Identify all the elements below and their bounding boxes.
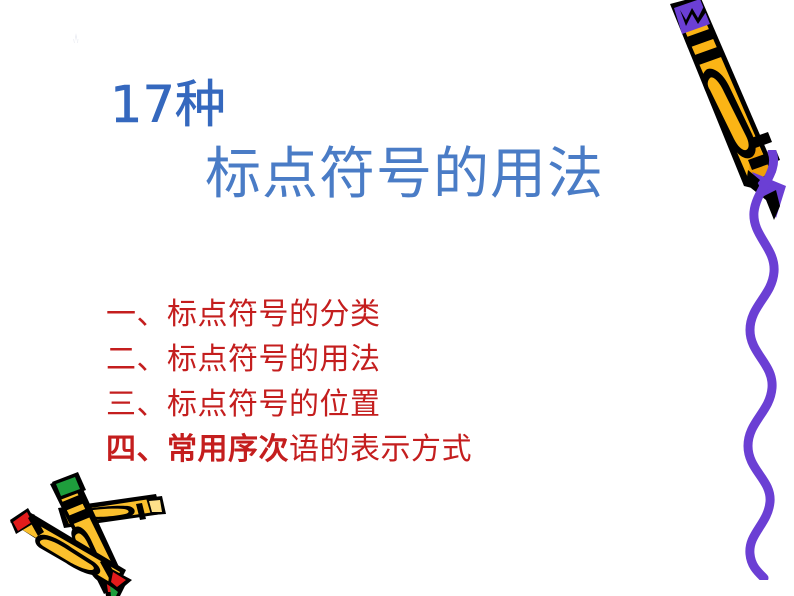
title-line-1: 17种	[110, 77, 226, 135]
crayons-group-icon	[10, 470, 195, 596]
list-item[interactable]: 一、标点符号的分类	[106, 292, 576, 337]
list-item-lead: 常用序次	[167, 432, 289, 467]
slide-canvas: 17种 标点符号的用法 一、标点符号的分类 二、标点符号的用法 三、标点符号的位…	[0, 0, 794, 596]
list-item[interactable]: 三、标点符号的位置	[106, 382, 576, 427]
page-title: 17种 标点符号的用法	[0, 0, 660, 230]
list-item-marker: 一、	[106, 297, 167, 332]
crayon-icon	[648, 0, 794, 229]
list-item-marker: 四、	[106, 432, 167, 467]
list-item-label: 标点符号的用法	[167, 342, 381, 377]
list-item-label: 标点符号的分类	[167, 297, 381, 332]
list-item[interactable]: 二、标点符号的用法	[106, 337, 576, 382]
purple-wavy-line-icon	[736, 150, 794, 580]
list-item[interactable]: 四、常用序次语的表示方式	[106, 427, 576, 472]
list-item-marker: 二、	[106, 342, 167, 377]
list-item-marker: 三、	[106, 387, 167, 422]
list-item-label: 标点符号的位置	[167, 387, 381, 422]
title-line-2: 标点符号的用法	[205, 143, 604, 207]
outline-list: 一、标点符号的分类 二、标点符号的用法 三、标点符号的位置 四、常用序次语的表示…	[106, 292, 576, 472]
list-item-label: 语的表示方式	[289, 432, 472, 467]
